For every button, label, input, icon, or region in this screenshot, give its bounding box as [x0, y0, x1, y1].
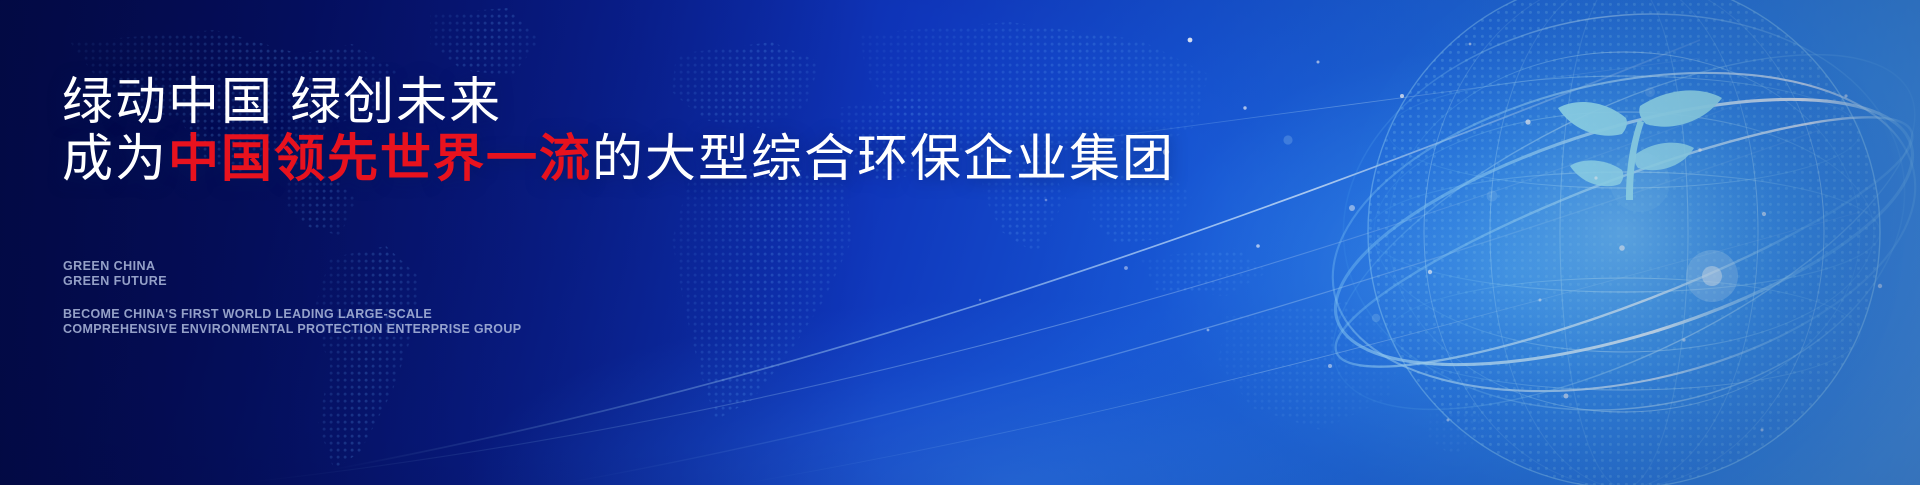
hero-banner: 绿动中国 绿创未来 成为中国领先世界一流的大型综合环保企业集团 GREEN CH…	[0, 0, 1920, 485]
paragraph-line-1: BECOME CHINA'S FIRST WORLD LEADING LARGE…	[63, 307, 521, 322]
headline-secondary: 成为中国领先世界一流的大型综合环保企业集团	[62, 133, 1175, 184]
subtitle-line-1: GREEN CHINA	[63, 259, 167, 274]
subtitle-english: GREEN CHINA GREEN FUTURE	[63, 259, 167, 288]
banner-copy: 绿动中国 绿创未来 成为中国领先世界一流的大型综合环保企业集团 GREEN CH…	[62, 0, 1062, 485]
headline-secondary-highlight: 中国领先世界一流	[168, 130, 592, 187]
headline-secondary-suffix: 的大型综合环保企业集团	[592, 130, 1175, 187]
subtitle-line-2: GREEN FUTURE	[63, 274, 167, 289]
headline-secondary-prefix: 成为	[62, 130, 168, 187]
paragraph-line-2: COMPREHENSIVE ENVIRONMENTAL PROTECTION E…	[63, 322, 521, 337]
headline-primary: 绿动中国 绿创未来	[62, 76, 502, 127]
paragraph-english: BECOME CHINA'S FIRST WORLD LEADING LARGE…	[63, 307, 521, 336]
